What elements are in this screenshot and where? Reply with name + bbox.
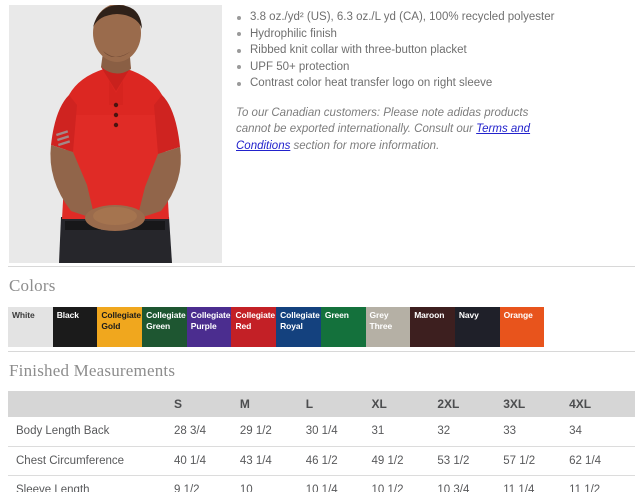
canadian-customers-notice: To our Canadian customers: Please note a… bbox=[236, 105, 566, 155]
bullet-icon bbox=[237, 49, 241, 53]
spec-item: Hydrophilic finish bbox=[236, 26, 636, 43]
colors-section: Colors WhiteBlackCollegiate GoldCollegia… bbox=[0, 266, 643, 344]
color-swatch-label: Green bbox=[325, 310, 365, 321]
measurement-row-label: Body Length Back bbox=[8, 417, 174, 446]
color-swatch[interactable]: Collegiate Purple bbox=[187, 307, 232, 347]
product-detail-page: 3.8 oz./yd² (US), 6.3 oz./L yd (CA), 100… bbox=[0, 0, 643, 492]
table-col-header-size: L bbox=[306, 391, 372, 417]
measurement-value: 28 3/4 bbox=[174, 417, 240, 446]
measurements-section: Finished Measurements SMLXL2XL3XL4XL Bod… bbox=[0, 351, 643, 492]
measurement-row-label: Chest Circumference bbox=[8, 446, 174, 475]
measurement-value: 62 1/4 bbox=[569, 446, 635, 475]
color-swatch-label: Maroon bbox=[414, 310, 454, 321]
spec-item: Contrast color heat transfer logo on rig… bbox=[236, 75, 636, 92]
product-overview-section: 3.8 oz./yd² (US), 6.3 oz./L yd (CA), 100… bbox=[0, 0, 643, 266]
color-swatch[interactable]: Orange bbox=[500, 307, 545, 347]
color-swatch[interactable]: Grey Three bbox=[366, 307, 411, 347]
color-swatch-label: White bbox=[12, 310, 52, 321]
color-swatch-label: Collegiate Royal bbox=[280, 310, 320, 331]
color-swatch[interactable]: Collegiate Red bbox=[231, 307, 276, 347]
spec-item: UPF 50+ protection bbox=[236, 59, 636, 76]
bullet-icon bbox=[237, 65, 241, 69]
measurement-value: 9 1/2 bbox=[174, 475, 240, 492]
measurement-value: 10 3/4 bbox=[437, 475, 503, 492]
spec-item-text: Ribbed knit collar with three-button pla… bbox=[250, 44, 467, 56]
table-col-header-size: 4XL bbox=[569, 391, 635, 417]
table-col-header-size: XL bbox=[372, 391, 438, 417]
color-swatch-label: Navy bbox=[459, 310, 499, 321]
finished-measurements-table: SMLXL2XL3XL4XL Body Length Back28 3/429 … bbox=[8, 391, 635, 492]
color-swatch-row: WhiteBlackCollegiate GoldCollegiate Gree… bbox=[8, 307, 545, 347]
table-row: Body Length Back28 3/429 1/230 1/4313233… bbox=[8, 417, 635, 446]
colors-heading: Colors bbox=[0, 267, 643, 296]
measurement-value: 43 1/4 bbox=[240, 446, 306, 475]
spec-item: 3.8 oz./yd² (US), 6.3 oz./L yd (CA), 100… bbox=[236, 9, 636, 26]
color-swatch-label: Grey Three bbox=[370, 310, 410, 331]
bullet-icon bbox=[237, 82, 241, 86]
measurement-value: 57 1/2 bbox=[503, 446, 569, 475]
measurement-row-label: Sleeve Length bbox=[8, 475, 174, 492]
table-row: Sleeve Length9 1/21010 1/410 1/210 3/411… bbox=[8, 475, 635, 492]
color-swatch-label: Collegiate Red bbox=[235, 310, 275, 331]
spec-item-text: 3.8 oz./yd² (US), 6.3 oz./L yd (CA), 100… bbox=[250, 11, 554, 23]
table-col-header-size: 3XL bbox=[503, 391, 569, 417]
table-col-header-size: S bbox=[174, 391, 240, 417]
bullet-icon bbox=[237, 32, 241, 36]
measurements-heading: Finished Measurements bbox=[0, 352, 643, 381]
measurement-value: 10 bbox=[240, 475, 306, 492]
spec-bullet-list: 3.8 oz./yd² (US), 6.3 oz./L yd (CA), 100… bbox=[236, 9, 636, 92]
measurement-value: 30 1/4 bbox=[306, 417, 372, 446]
table-col-header-size: 2XL bbox=[437, 391, 503, 417]
measurement-value: 10 1/2 bbox=[372, 475, 438, 492]
spec-item: Ribbed knit collar with three-button pla… bbox=[236, 42, 636, 59]
table-header: SMLXL2XL3XL4XL bbox=[8, 391, 635, 417]
measurement-value: 31 bbox=[372, 417, 438, 446]
table-col-header-blank bbox=[8, 391, 174, 417]
measurement-value: 11 1/2 bbox=[569, 475, 635, 492]
product-image[interactable] bbox=[9, 5, 222, 263]
color-swatch[interactable]: Green bbox=[321, 307, 366, 347]
measurement-value: 10 1/4 bbox=[306, 475, 372, 492]
table-row: Chest Circumference40 1/443 1/446 1/249 … bbox=[8, 446, 635, 475]
color-swatch-label: Collegiate Purple bbox=[191, 310, 231, 331]
spec-item-text: Contrast color heat transfer logo on rig… bbox=[250, 77, 492, 89]
measurement-value: 40 1/4 bbox=[174, 446, 240, 475]
color-swatch[interactable]: Collegiate Royal bbox=[276, 307, 321, 347]
table-col-header-size: M bbox=[240, 391, 306, 417]
notice-text-after: section for more information. bbox=[290, 140, 439, 152]
color-swatch-label: Collegiate Green bbox=[146, 310, 186, 331]
table-header-row: SMLXL2XL3XL4XL bbox=[8, 391, 635, 417]
spec-item-text: Hydrophilic finish bbox=[250, 28, 337, 40]
color-swatch[interactable]: Maroon bbox=[410, 307, 455, 347]
measurement-value: 11 1/4 bbox=[503, 475, 569, 492]
measurement-value: 49 1/2 bbox=[372, 446, 438, 475]
color-swatch[interactable]: Collegiate Green bbox=[142, 307, 187, 347]
color-swatch[interactable]: White bbox=[8, 307, 53, 347]
spec-item-text: UPF 50+ protection bbox=[250, 61, 349, 73]
table-body: Body Length Back28 3/429 1/230 1/4313233… bbox=[8, 417, 635, 492]
measurement-value: 53 1/2 bbox=[437, 446, 503, 475]
color-swatch[interactable]: Black bbox=[53, 307, 98, 347]
product-specifications: 3.8 oz./yd² (US), 6.3 oz./L yd (CA), 100… bbox=[236, 9, 636, 166]
color-swatch-label: Black bbox=[57, 310, 97, 321]
color-swatch-label: Orange bbox=[504, 310, 544, 321]
color-swatch[interactable]: Collegiate Gold bbox=[97, 307, 142, 347]
product-photo-illustration bbox=[9, 5, 222, 263]
measurement-value: 34 bbox=[569, 417, 635, 446]
bullet-icon bbox=[237, 16, 241, 20]
measurement-value: 33 bbox=[503, 417, 569, 446]
color-swatch-label: Collegiate Gold bbox=[101, 310, 141, 331]
measurement-value: 46 1/2 bbox=[306, 446, 372, 475]
measurement-value: 32 bbox=[437, 417, 503, 446]
measurement-value: 29 1/2 bbox=[240, 417, 306, 446]
color-swatch[interactable]: Navy bbox=[455, 307, 500, 347]
